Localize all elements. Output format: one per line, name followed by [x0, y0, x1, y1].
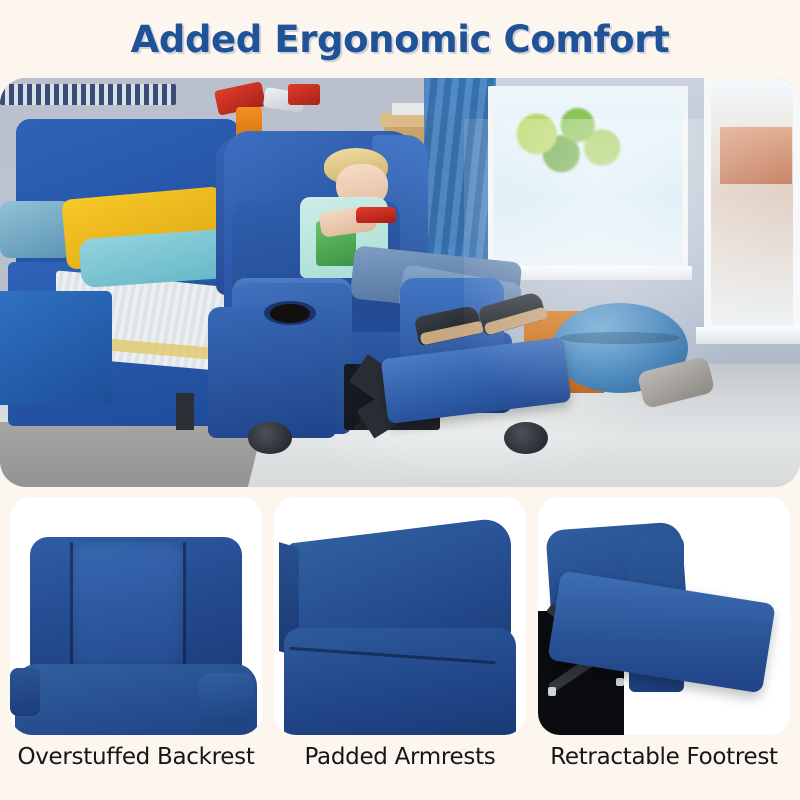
- feature-card-retractable-footrest: [538, 497, 790, 735]
- infographic-page: Added Ergonomic Comfort: [0, 0, 800, 800]
- armrest-pad: [284, 628, 516, 735]
- backrest-seam: [183, 542, 186, 671]
- recliner-foot: [248, 422, 292, 455]
- backrest-pad: [70, 542, 183, 671]
- title-bar: Added Ergonomic Comfort: [0, 0, 800, 78]
- backrest-arm-left: [10, 668, 40, 716]
- hero-image: [0, 78, 800, 487]
- caption-overstuffed-backrest: Overstuffed Backrest: [10, 740, 262, 800]
- window-right: [704, 78, 800, 332]
- caption-retractable-footrest: Retractable Footrest: [538, 740, 790, 800]
- page-title: Added Ergonomic Comfort: [131, 18, 670, 61]
- window-brick-view: [720, 127, 792, 184]
- cupholder-well: [270, 304, 310, 322]
- red-toy-car-icon: [356, 207, 396, 223]
- window-foliage: [496, 98, 632, 188]
- recliner-side-panel: [208, 307, 336, 438]
- footrest-card-bolt: [548, 687, 556, 695]
- caption-padded-armrests: Padded Armrests: [274, 740, 526, 800]
- feature-card-padded-armrests: [274, 497, 526, 735]
- beanbag-fold: [560, 332, 680, 344]
- recliner-foot: [504, 422, 548, 455]
- bed-blanket: [0, 291, 112, 406]
- feature-captions: Overstuffed Backrest Padded Armrests Ret…: [0, 740, 800, 800]
- footrest-card-bolt: [616, 678, 624, 686]
- wall-toy-icon: [288, 84, 320, 104]
- window-sill: [696, 327, 800, 343]
- feature-cards: [0, 497, 800, 737]
- feature-card-overstuffed-backrest: [10, 497, 262, 735]
- bedroom-scene: [0, 78, 800, 487]
- bed-leg: [176, 393, 194, 430]
- wall-shelf-decor: [0, 84, 176, 104]
- backrest-arm-right: [199, 673, 254, 725]
